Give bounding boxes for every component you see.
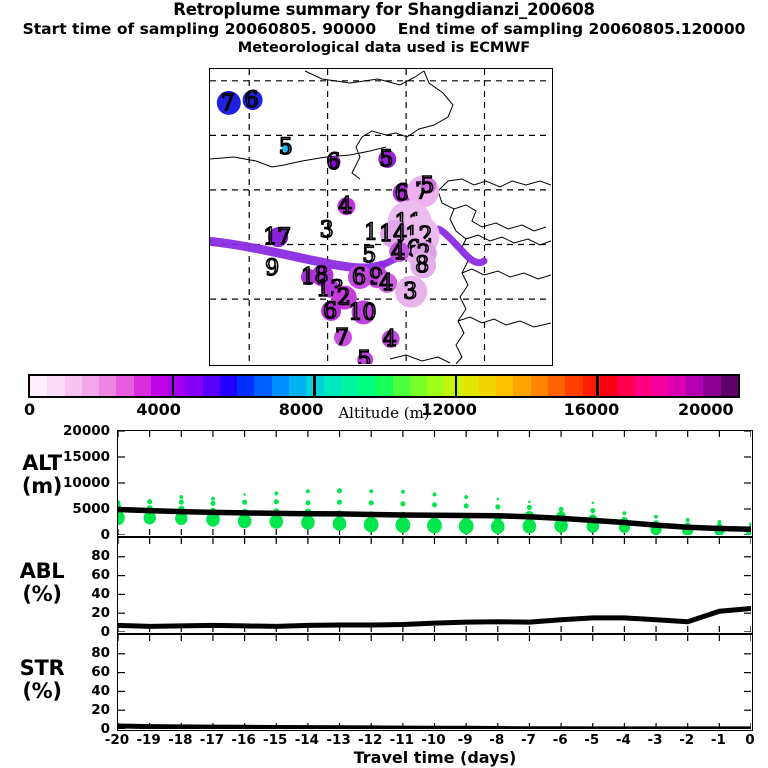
alt-bubble xyxy=(623,511,627,515)
alt-bubble xyxy=(179,495,183,499)
x-tick-neg1: -1 xyxy=(698,733,738,747)
colorbar-segment-23 xyxy=(427,376,444,396)
str-plot-panel[interactable] xyxy=(117,634,753,731)
marker-day-label: 7 xyxy=(221,91,235,116)
alt-bubble xyxy=(527,505,532,510)
alt-bubble xyxy=(497,498,499,501)
trajectory-track xyxy=(210,229,484,268)
alt-plot-panel[interactable] xyxy=(117,430,753,537)
colorbar-segment-29 xyxy=(531,376,548,396)
alt-bubble xyxy=(333,516,347,531)
colorbar-segment-5 xyxy=(116,376,133,396)
x-tick-neg13: -13 xyxy=(319,733,359,747)
colorbar-segment-1 xyxy=(47,376,64,396)
plume-marker[interactable]: 9 xyxy=(265,256,279,281)
plume-marker[interactable]: 5 xyxy=(420,174,436,199)
colorbar-segment-0 xyxy=(30,376,47,396)
alt-bubble xyxy=(243,493,245,496)
alt-bubble xyxy=(749,522,751,526)
plume-marker[interactable]: 6 xyxy=(327,150,341,175)
abl-plot-canvas xyxy=(118,538,751,632)
marker-day-label: 4 xyxy=(383,327,397,352)
abl-line xyxy=(118,609,751,627)
colorbar-segment-34 xyxy=(617,376,634,396)
marker-day-label: 6 xyxy=(352,265,366,290)
marker-day-label: 9 xyxy=(265,256,279,281)
marker-day-label: 8 xyxy=(415,253,429,278)
str-ytick-0: 0 xyxy=(44,723,110,736)
alt-bubble xyxy=(592,502,594,505)
alt-bubble xyxy=(464,495,468,499)
alt-bubble xyxy=(369,489,373,493)
alt-bubble xyxy=(654,515,658,519)
alt-bubble xyxy=(464,503,469,508)
colorbar-segment-25 xyxy=(462,376,479,396)
alt-bubble xyxy=(270,514,284,529)
x-tick-neg12: -12 xyxy=(350,733,390,747)
plume-marker[interactable]: 6 xyxy=(243,88,263,113)
colorbar-segment-20 xyxy=(375,376,392,396)
colorbar-segment-6 xyxy=(134,376,151,396)
colorbar-segment-31 xyxy=(565,376,582,396)
retroplume-map[interactable]: 7656567543171112141624859186941332610745 xyxy=(209,68,553,366)
coastline-paths xyxy=(210,71,551,364)
marker-day-label: 5 xyxy=(379,147,393,172)
colorbar-divider-3 xyxy=(596,376,599,396)
alt-bubble xyxy=(274,491,278,495)
alt-bubble xyxy=(274,499,279,504)
plume-marker[interactable]: 7 xyxy=(217,91,241,116)
str-plot-canvas xyxy=(118,635,751,729)
alt-ytick-20000: 20000 xyxy=(44,425,110,438)
x-tick-neg4: -4 xyxy=(603,733,643,747)
colorbar-segment-10 xyxy=(203,376,220,396)
colorbar-segment-15 xyxy=(289,376,306,396)
colorbar-divider-1 xyxy=(313,376,316,396)
x-tick-neg19: -19 xyxy=(129,733,169,747)
x-tick-neg2: -2 xyxy=(667,733,707,747)
plume-marker[interactable]: 4 xyxy=(382,327,400,352)
alt-bubble xyxy=(301,515,315,530)
x-tick-0: 0 xyxy=(730,733,768,747)
alt-bubble xyxy=(337,488,342,493)
x-tick-neg5: -5 xyxy=(572,733,612,747)
alt-bubble xyxy=(369,500,374,505)
altitude-colorbar[interactable]: 040008000120001600020000 xyxy=(28,374,740,398)
abl-ytick-20: 20 xyxy=(44,607,110,620)
alt-bubble xyxy=(238,514,252,529)
colorbar-segment-22 xyxy=(410,376,427,396)
marker-day-label: 10 xyxy=(349,300,377,325)
alt-label-bottom: (m) xyxy=(6,475,78,498)
colorbar-segment-2 xyxy=(65,376,82,396)
title-block: Retroplume summary for Shangdianzi_20060… xyxy=(0,0,768,57)
alt-bubble xyxy=(686,518,690,522)
colorbar-segment-33 xyxy=(600,376,617,396)
alt-bubble xyxy=(590,508,595,513)
alt-bubble xyxy=(179,500,184,505)
colorbar-segment-18 xyxy=(341,376,358,396)
map-gridlines xyxy=(210,69,551,364)
marker-day-label: 6 xyxy=(327,150,341,175)
plume-marker[interactable]: 8 xyxy=(410,252,436,278)
sampling-time-line: Start time of sampling 20060805. 90000 E… xyxy=(0,20,768,39)
colorbar-divider-0 xyxy=(172,376,175,396)
alt-bubble xyxy=(559,507,564,512)
alt-bubble xyxy=(118,511,125,526)
colorbar-axis-label: Altitude (m) xyxy=(0,404,768,422)
alt-bubble xyxy=(337,500,342,505)
plume-marker[interactable]: 7 xyxy=(334,325,352,350)
str-axis-label: STR (%) xyxy=(6,657,78,703)
alt-bubble xyxy=(118,500,121,505)
colorbar-segment-7 xyxy=(151,376,168,396)
x-tick-neg10: -10 xyxy=(414,733,454,747)
colorbar-segment-17 xyxy=(324,376,341,396)
abl-plot-panel[interactable] xyxy=(117,537,753,634)
marker-day-label: 6 xyxy=(245,88,259,113)
alt-bubble xyxy=(433,492,437,496)
str-label-top: STR xyxy=(6,657,78,680)
plume-marker[interactable]: 5 xyxy=(378,147,396,172)
colorbar-segment-38 xyxy=(686,376,703,396)
marker-day-label: 5 xyxy=(279,135,293,160)
colorbar-segment-40 xyxy=(721,376,738,396)
alt-ytick-5000: 5000 xyxy=(44,503,110,516)
alt-bubble xyxy=(718,520,722,524)
meteorological-data-line: Meteorological data used is ECMWF xyxy=(0,39,768,57)
x-tick-neg3: -3 xyxy=(635,733,675,747)
alt-bubble xyxy=(528,500,530,503)
colorbar-segment-27 xyxy=(496,376,513,396)
str-tick-marks xyxy=(118,635,751,729)
x-tick-neg8: -8 xyxy=(477,733,517,747)
alt-bubble xyxy=(211,501,216,506)
colorbar-segment-30 xyxy=(548,376,565,396)
alt-bubble xyxy=(242,500,247,505)
abl-label-top: ABL xyxy=(6,560,78,583)
colorbar-segment-35 xyxy=(634,376,651,396)
colorbar-segment-14 xyxy=(272,376,289,396)
colorbar-segment-11 xyxy=(220,376,237,396)
colorbar-segment-3 xyxy=(82,376,99,396)
marker-day-label: 4 xyxy=(338,194,352,219)
plume-marker[interactable]: 3 xyxy=(395,276,427,308)
colorbar-segment-26 xyxy=(479,376,496,396)
plume-marker[interactable]: 4 xyxy=(337,194,355,219)
x-tick-neg16: -16 xyxy=(224,733,264,747)
alt-bubble xyxy=(306,489,310,493)
colorbar-segment-19 xyxy=(358,376,375,396)
marker-day-label: 3 xyxy=(320,218,334,243)
str-label-bottom: (%) xyxy=(6,680,78,703)
colorbar-segment-12 xyxy=(237,376,254,396)
colorbar-segment-37 xyxy=(669,376,686,396)
marker-day-label: 5 xyxy=(420,174,434,199)
abl-label-bottom: (%) xyxy=(6,583,78,606)
plume-marker[interactable]: 5 xyxy=(357,348,373,364)
marker-day-label: 6 xyxy=(323,299,337,324)
marker-day-label: 4 xyxy=(391,240,405,265)
colorbar-segment-36 xyxy=(652,376,669,396)
x-tick-neg7: -7 xyxy=(508,733,548,747)
colorbar-segment-13 xyxy=(254,376,271,396)
abl-axis-label: ABL (%) xyxy=(6,560,78,606)
colorbar-segment-9 xyxy=(185,376,202,396)
x-tick-neg17: -17 xyxy=(192,733,232,747)
plume-marker[interactable]: 5 xyxy=(279,135,293,160)
marker-day-label: 7 xyxy=(335,325,349,350)
alt-bubble xyxy=(211,497,215,501)
x-tick-neg9: -9 xyxy=(445,733,485,747)
abl-ytick-0: 0 xyxy=(44,626,110,639)
x-tick-neg14: -14 xyxy=(287,733,327,747)
x-tick-neg6: -6 xyxy=(540,733,580,747)
colorbar-segment-39 xyxy=(703,376,720,396)
alt-bubble xyxy=(305,500,310,505)
colorbar-segment-24 xyxy=(444,376,461,396)
marker-day-label: 3 xyxy=(403,280,417,305)
colorbar-segment-21 xyxy=(393,376,410,396)
alt-plot-canvas xyxy=(118,431,751,535)
x-axis-title: Travel time (days) xyxy=(117,748,753,767)
alt-bubble xyxy=(495,504,500,509)
plume-marker[interactable]: 4 xyxy=(377,271,397,296)
alt-label-top: ALT xyxy=(6,452,78,475)
plume-marker[interactable]: 17 xyxy=(263,225,291,250)
x-tick-neg18: -18 xyxy=(160,733,200,747)
alt-axis-label: ALT (m) xyxy=(6,452,78,498)
page-title: Retroplume summary for Shangdianzi_20060… xyxy=(0,0,768,20)
alt-bubble xyxy=(400,501,405,506)
plume-marker[interactable]: 10 xyxy=(349,300,377,325)
str-ytick-20: 20 xyxy=(44,704,110,717)
plume-marker[interactable]: 3 xyxy=(320,218,334,243)
alt-bubble xyxy=(401,490,405,494)
alt-bubble xyxy=(147,499,152,504)
colorbar-divider-2 xyxy=(455,376,458,396)
map-canvas: 7656567543171112141624859186941332610745 xyxy=(210,69,551,364)
x-tick-neg20: -20 xyxy=(97,733,137,747)
str-line xyxy=(118,726,751,729)
marker-day-label: 17 xyxy=(263,225,291,250)
x-tick-neg15: -15 xyxy=(255,733,295,747)
colorbar-segment-28 xyxy=(513,376,530,396)
marker-day-label: 5 xyxy=(357,348,371,364)
x-tick-neg11: -11 xyxy=(382,733,422,747)
alt-bubble xyxy=(432,502,437,507)
alt-ytick-0: 0 xyxy=(44,529,110,542)
marker-day-label: 4 xyxy=(379,271,393,296)
colorbar-segment-4 xyxy=(99,376,116,396)
colorbar-gradient xyxy=(28,374,740,398)
